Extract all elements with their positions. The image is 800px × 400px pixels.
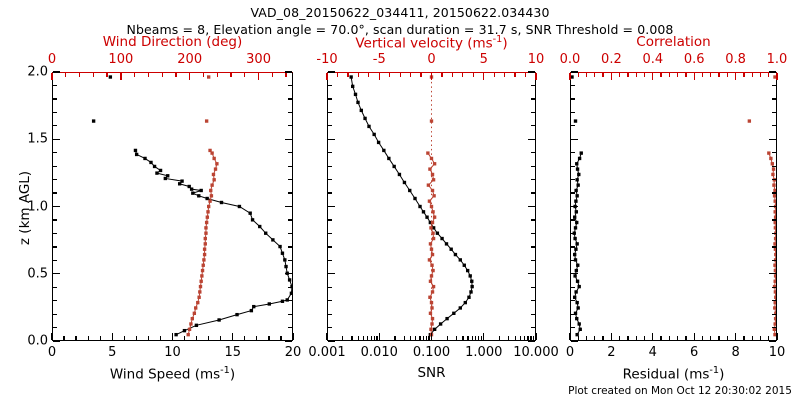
x-minor-tick: [735, 336, 736, 340]
y-minor-tick: [528, 139, 535, 140]
x-top-minor-tick: [760, 73, 761, 77]
x-minor-tick: [374, 336, 375, 340]
series-marker: [773, 210, 776, 213]
x-minor-tick: [710, 336, 711, 340]
series-marker: [575, 178, 578, 181]
series-marker: [432, 237, 435, 240]
x-top-minor-tick: [619, 73, 620, 77]
y-minor-tick: [571, 340, 578, 341]
x-minor-tick: [51, 336, 52, 340]
series-marker: [92, 119, 95, 122]
y-minor-tick: [571, 179, 575, 180]
series-marker: [432, 178, 435, 181]
x-minor-tick: [456, 336, 457, 340]
panel-residual-profile: [570, 72, 777, 341]
series-marker: [413, 197, 416, 200]
series-marker: [772, 167, 775, 170]
y-minor-tick: [531, 246, 535, 247]
series-marker: [258, 225, 261, 228]
x-minor-tick: [172, 336, 173, 340]
y-minor-tick: [769, 340, 776, 341]
x-minor-tick: [776, 336, 777, 340]
x-top-tick-label: -10: [316, 52, 337, 67]
x-minor-tick: [100, 336, 101, 340]
x-top-minor-tick: [677, 73, 678, 77]
series-marker: [771, 173, 774, 176]
x-top-minor-tick: [694, 73, 695, 77]
x-minor-tick: [481, 336, 482, 340]
y-minor-tick: [53, 300, 57, 301]
x-minor-tick: [677, 336, 678, 340]
x-top-minor-tick: [535, 73, 536, 77]
x-top-minor-tick: [217, 73, 218, 77]
y-minor-tick: [328, 192, 332, 193]
y-minor-tick: [328, 287, 332, 288]
y-minor-tick: [328, 152, 332, 153]
y-minor-tick: [288, 166, 292, 167]
y-minor-tick: [288, 219, 292, 220]
series-marker: [206, 215, 209, 218]
series-marker: [191, 317, 194, 320]
panel-residual-plot-area: [571, 73, 776, 340]
x-minor-tick: [124, 336, 125, 340]
series-marker: [577, 173, 580, 176]
series-marker: [436, 232, 439, 235]
x-major-tick: [431, 333, 432, 340]
series-marker: [430, 119, 433, 122]
x-minor-tick: [499, 336, 500, 340]
series-marker: [377, 141, 380, 144]
x-top-tick-label: 0: [427, 52, 435, 67]
series-marker: [773, 242, 776, 245]
y-tick-label: 0.0: [8, 334, 48, 349]
x-tick-label: 10: [769, 345, 786, 360]
x-top-tick-label: 0.8: [725, 52, 746, 67]
series-marker: [109, 75, 112, 78]
series-marker: [748, 119, 751, 122]
series-marker: [431, 317, 434, 320]
y-minor-tick: [328, 125, 332, 126]
x-top-minor-tick: [710, 73, 711, 77]
x-top-minor-tick: [65, 73, 66, 77]
x-top-minor-tick: [611, 73, 612, 77]
y-minor-tick: [53, 327, 57, 328]
x-minor-tick: [426, 336, 427, 340]
x-minor-tick: [569, 336, 570, 340]
x-top-minor-tick: [189, 73, 190, 77]
series-marker: [205, 221, 208, 224]
series-marker: [349, 75, 352, 78]
x-top-tick-label: 0: [48, 52, 56, 67]
x-minor-tick: [419, 336, 420, 340]
series-marker: [578, 157, 581, 160]
y-minor-tick: [772, 327, 776, 328]
series-marker: [210, 183, 213, 186]
x-minor-tick: [478, 336, 479, 340]
x-minor-tick: [342, 336, 343, 340]
series-marker: [268, 302, 271, 305]
series-line: [188, 150, 217, 334]
x-tick-label: 0.010: [361, 345, 398, 360]
y-minor-tick: [571, 206, 578, 207]
x-top-minor-tick: [452, 73, 453, 77]
series-marker: [197, 194, 200, 197]
x-minor-tick: [586, 336, 587, 340]
y-minor-tick: [571, 112, 575, 113]
series-line: [351, 77, 472, 335]
x-tick-label: 20: [285, 345, 302, 360]
series-marker: [459, 258, 462, 261]
series-marker: [198, 290, 201, 293]
series-marker: [220, 201, 223, 204]
series-marker: [774, 248, 776, 251]
series-marker: [774, 274, 776, 277]
series-marker: [439, 322, 442, 325]
series-marker: [774, 290, 776, 293]
series-marker: [430, 205, 433, 208]
y-minor-tick: [53, 98, 57, 99]
x-minor-tick: [475, 336, 476, 340]
x-top-minor-tick: [272, 73, 273, 77]
y-minor-tick: [53, 260, 57, 261]
y-tick-label: 1.5: [8, 132, 48, 147]
series-marker: [356, 101, 359, 104]
y-minor-tick: [772, 300, 776, 301]
series-marker: [467, 296, 470, 299]
y-minor-tick: [53, 273, 60, 274]
series-marker: [149, 161, 152, 164]
series-marker: [193, 312, 196, 315]
x-top-minor-tick: [326, 73, 327, 77]
y-minor-tick: [285, 340, 292, 341]
series-marker: [392, 165, 395, 168]
series-marker: [205, 197, 208, 200]
series-marker: [773, 301, 776, 304]
y-minor-tick: [772, 112, 776, 113]
series-marker: [429, 242, 432, 245]
series-marker: [573, 237, 576, 240]
y-minor-tick: [288, 300, 292, 301]
x-minor-tick: [768, 336, 769, 340]
series-marker: [204, 232, 207, 235]
x-minor-tick: [727, 336, 728, 340]
series-marker: [575, 221, 578, 224]
series-marker: [135, 153, 138, 156]
series-marker: [431, 173, 434, 176]
series-marker: [574, 199, 577, 202]
x-major-tick: [379, 333, 380, 340]
x-top-minor-tick: [743, 73, 744, 77]
x-minor-tick: [524, 336, 525, 340]
y-minor-tick: [53, 340, 60, 341]
y-minor-tick: [531, 152, 535, 153]
x-minor-tick: [404, 336, 405, 340]
series-marker: [426, 151, 429, 154]
series-marker: [449, 248, 452, 251]
y-minor-tick: [531, 300, 535, 301]
series-marker: [284, 265, 287, 268]
series-marker: [212, 173, 215, 176]
series-marker: [576, 306, 579, 309]
x-top-tick-label: 100: [108, 52, 133, 67]
y-minor-tick: [772, 192, 776, 193]
x-axis-title-top: Correlation: [530, 34, 800, 50]
y-minor-tick: [571, 139, 578, 140]
series-marker: [271, 238, 274, 241]
panel-snr-profile: [327, 72, 536, 341]
series-marker: [428, 199, 431, 202]
x-minor-tick: [363, 336, 364, 340]
series-marker: [430, 306, 433, 309]
series-marker: [187, 333, 190, 336]
series-marker: [578, 322, 581, 325]
x-minor-tick: [669, 336, 670, 340]
series-marker: [433, 328, 436, 331]
series-marker: [202, 264, 205, 267]
y-minor-tick: [772, 152, 776, 153]
y-minor-tick: [531, 125, 535, 126]
series-marker: [191, 191, 194, 194]
series-marker: [194, 306, 197, 309]
x-tick-label: 10: [164, 345, 181, 360]
series-marker: [454, 253, 457, 256]
series-marker: [573, 274, 576, 277]
series-marker: [189, 322, 192, 325]
series-marker: [418, 205, 421, 208]
y-minor-tick: [772, 246, 776, 247]
series-marker: [428, 296, 431, 299]
series-marker: [290, 292, 292, 295]
x-top-minor-tick: [718, 73, 719, 77]
series-marker: [430, 157, 433, 160]
x-minor-tick: [220, 336, 221, 340]
y-minor-tick: [531, 233, 535, 234]
panel-wind-profile: [52, 72, 293, 341]
series-marker: [183, 329, 186, 332]
x-minor-tick: [627, 336, 628, 340]
x-top-minor-tick: [431, 73, 432, 77]
x-top-tick-label: 300: [246, 52, 271, 67]
x-minor-tick: [423, 336, 424, 340]
y-minor-tick: [288, 260, 292, 261]
series-marker: [432, 285, 435, 288]
x-top-minor-tick: [337, 73, 338, 77]
series-marker: [575, 210, 578, 213]
x-minor-tick: [136, 336, 137, 340]
series-marker: [360, 109, 363, 112]
y-minor-tick: [53, 287, 57, 288]
y-minor-tick: [571, 98, 575, 99]
series-marker: [575, 317, 578, 320]
y-minor-tick: [328, 98, 332, 99]
x-top-tick-label: 0.2: [601, 52, 622, 67]
y-minor-tick: [285, 273, 292, 274]
series-marker: [433, 162, 436, 165]
series-marker: [283, 258, 286, 261]
x-minor-tick: [515, 336, 516, 340]
series-marker: [430, 301, 433, 304]
x-top-minor-tick: [120, 73, 121, 77]
x-top-minor-tick: [685, 73, 686, 77]
series-marker: [250, 309, 253, 312]
y-minor-tick: [571, 192, 575, 193]
x-top-minor-tick: [441, 73, 442, 77]
y-minor-tick: [288, 179, 292, 180]
x-top-minor-tick: [569, 73, 570, 77]
x-minor-tick: [508, 336, 509, 340]
y-minor-tick: [288, 192, 292, 193]
series-marker: [212, 178, 215, 181]
y-minor-tick: [571, 166, 575, 167]
x-minor-tick: [718, 336, 719, 340]
x-minor-tick: [376, 336, 377, 340]
series-marker: [238, 205, 241, 208]
y-minor-tick: [528, 71, 535, 72]
series-marker: [212, 157, 215, 160]
series-marker: [452, 312, 455, 315]
x-top-minor-tick: [244, 73, 245, 77]
x-minor-tick: [447, 336, 448, 340]
series-marker: [134, 149, 137, 152]
vad-plot-figure: VAD_08_20150622_034411, 20150622.034430 …: [0, 0, 800, 400]
series-marker: [774, 296, 776, 299]
series-marker: [248, 211, 251, 214]
y-minor-tick: [772, 179, 776, 180]
x-top-minor-tick: [285, 73, 286, 77]
series-marker: [203, 253, 206, 256]
x-minor-tick: [280, 336, 281, 340]
y-minor-tick: [531, 179, 535, 180]
y-minor-tick: [288, 233, 292, 234]
x-minor-tick: [410, 336, 411, 340]
y-minor-tick: [769, 139, 776, 140]
x-top-minor-tick: [586, 73, 587, 77]
series-marker: [774, 253, 776, 256]
y-minor-tick: [531, 314, 535, 315]
x-minor-tick: [619, 336, 620, 340]
series-marker: [445, 317, 448, 320]
y-minor-tick: [571, 300, 575, 301]
series-marker: [578, 285, 581, 288]
y-minor-tick: [328, 260, 332, 261]
y-tick-label: 2.0: [8, 65, 48, 80]
y-minor-tick: [288, 327, 292, 328]
y-minor-tick: [531, 260, 535, 261]
series-marker: [576, 264, 579, 267]
y-minor-tick: [288, 152, 292, 153]
series-marker: [252, 305, 255, 308]
series-marker: [200, 274, 203, 277]
x-tick-label: 5: [108, 345, 116, 360]
y-minor-tick: [53, 192, 57, 193]
y-minor-tick: [328, 139, 335, 140]
y-minor-tick: [53, 166, 57, 167]
x-minor-tick: [88, 336, 89, 340]
series-marker: [202, 258, 205, 261]
series-marker: [207, 75, 210, 78]
y-minor-tick: [53, 246, 57, 247]
y-minor-tick: [328, 179, 332, 180]
series-marker: [774, 226, 776, 229]
x-minor-tick: [358, 336, 359, 340]
series-marker: [188, 328, 191, 331]
series-marker: [363, 117, 366, 120]
series-marker: [432, 194, 435, 197]
series-marker: [430, 264, 433, 267]
series-marker: [188, 185, 191, 188]
y-minor-tick: [531, 112, 535, 113]
x-tick-label: 0: [48, 345, 56, 360]
series-marker: [281, 300, 284, 303]
x-minor-tick: [533, 336, 534, 340]
y-minor-tick: [531, 98, 535, 99]
x-minor-tick: [530, 336, 531, 340]
series-marker: [469, 290, 472, 293]
x-top-minor-tick: [230, 73, 231, 77]
series-marker: [575, 194, 578, 197]
x-top-minor-tick: [514, 73, 515, 77]
series-marker: [573, 253, 576, 256]
x-top-minor-tick: [627, 73, 628, 77]
y-minor-tick: [571, 314, 575, 315]
x-top-minor-tick: [504, 73, 505, 77]
y-minor-tick: [531, 287, 535, 288]
series-marker: [153, 165, 156, 168]
y-minor-tick: [328, 340, 335, 341]
series-marker: [155, 171, 158, 174]
series-marker: [199, 285, 202, 288]
x-top-minor-tick: [347, 73, 348, 77]
y-minor-tick: [328, 327, 332, 328]
series-marker: [205, 119, 208, 122]
x-top-minor-tick: [462, 73, 463, 77]
series-marker: [215, 162, 218, 165]
y-minor-tick: [328, 166, 332, 167]
series-marker: [470, 285, 473, 288]
x-minor-tick: [415, 336, 416, 340]
y-minor-tick: [571, 152, 575, 153]
series-marker: [422, 210, 425, 213]
y-minor-tick: [328, 71, 335, 72]
figure-title-line1: VAD_08_20150622_034411, 20150622.034430: [0, 5, 800, 20]
x-minor-tick: [367, 336, 368, 340]
series-marker: [235, 313, 238, 316]
x-major-tick: [326, 333, 327, 340]
x-top-tick-label: 0.6: [684, 52, 705, 67]
series-marker: [199, 189, 202, 192]
x-top-minor-tick: [525, 73, 526, 77]
x-top-tick-label: 5: [480, 52, 488, 67]
x-minor-tick: [428, 336, 429, 340]
series-marker: [773, 199, 776, 202]
x-top-tick-label: 0.4: [642, 52, 663, 67]
y-minor-tick: [769, 273, 776, 274]
x-top-minor-tick: [258, 73, 259, 77]
series-marker: [429, 328, 432, 331]
y-minor-tick: [571, 246, 575, 247]
series-marker: [180, 179, 183, 182]
y-minor-tick: [53, 112, 57, 113]
series-marker: [571, 75, 574, 78]
x-top-minor-tick: [483, 73, 484, 77]
series-marker: [166, 174, 169, 177]
x-minor-tick: [743, 336, 744, 340]
y-minor-tick: [772, 233, 776, 234]
series-marker: [773, 280, 776, 283]
x-minor-tick: [472, 336, 473, 340]
series-marker: [575, 162, 578, 165]
y-minor-tick: [531, 85, 535, 86]
